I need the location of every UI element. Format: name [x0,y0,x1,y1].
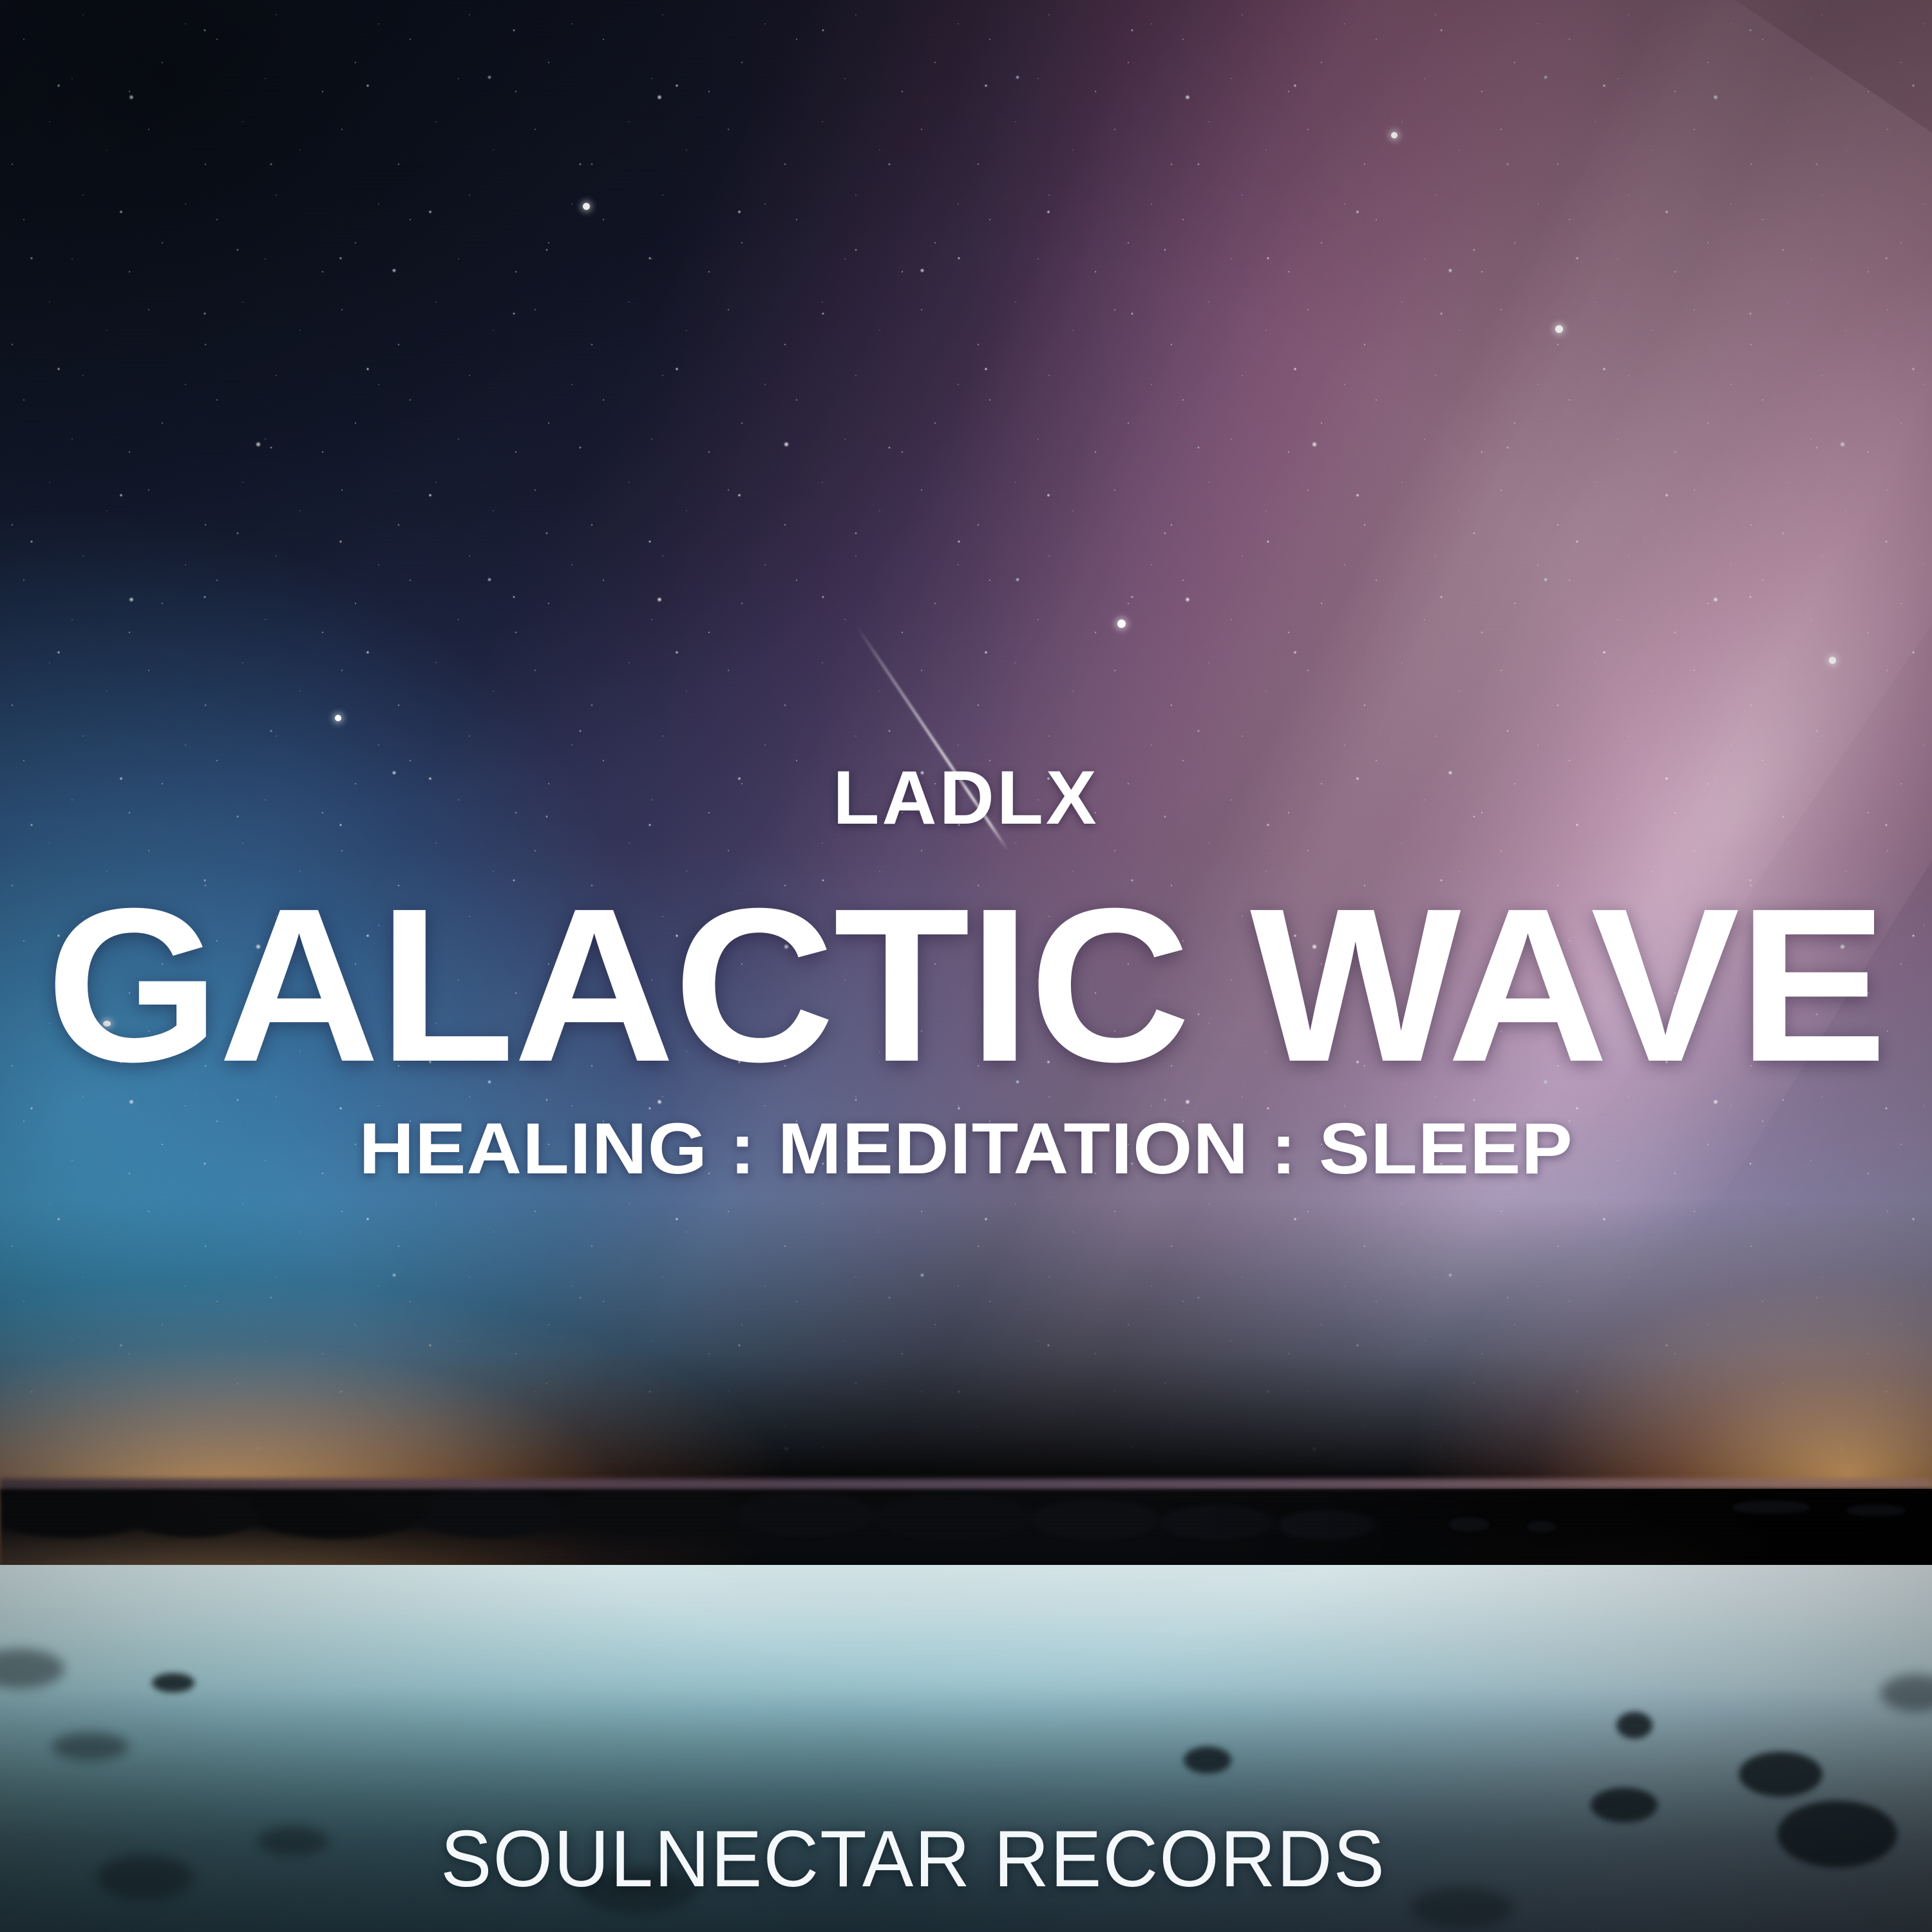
album-subtitle: HEALING : MEDITATION : SLEEP [0,1113,1932,1185]
distant-rock [1732,1501,1810,1513]
distant-rock [1847,1504,1905,1516]
water-stone [1184,1747,1231,1774]
album-title: GALACTIC WAVE [0,876,1932,1095]
water-stone [1591,1788,1658,1823]
water-stone [1739,1752,1823,1797]
record-label-name: SOULNECTAR RECORDS [0,1819,1841,1899]
distant-rock [1449,1517,1489,1531]
water-stone [1616,1712,1653,1739]
water-stone [152,1673,194,1692]
water-stone [52,1732,129,1761]
album-cover: LADLX GALACTIC WAVE HEALING : MEDITATION… [0,0,1932,1932]
distant-rock [1528,1521,1556,1532]
artist-name: LADLX [0,760,1932,836]
